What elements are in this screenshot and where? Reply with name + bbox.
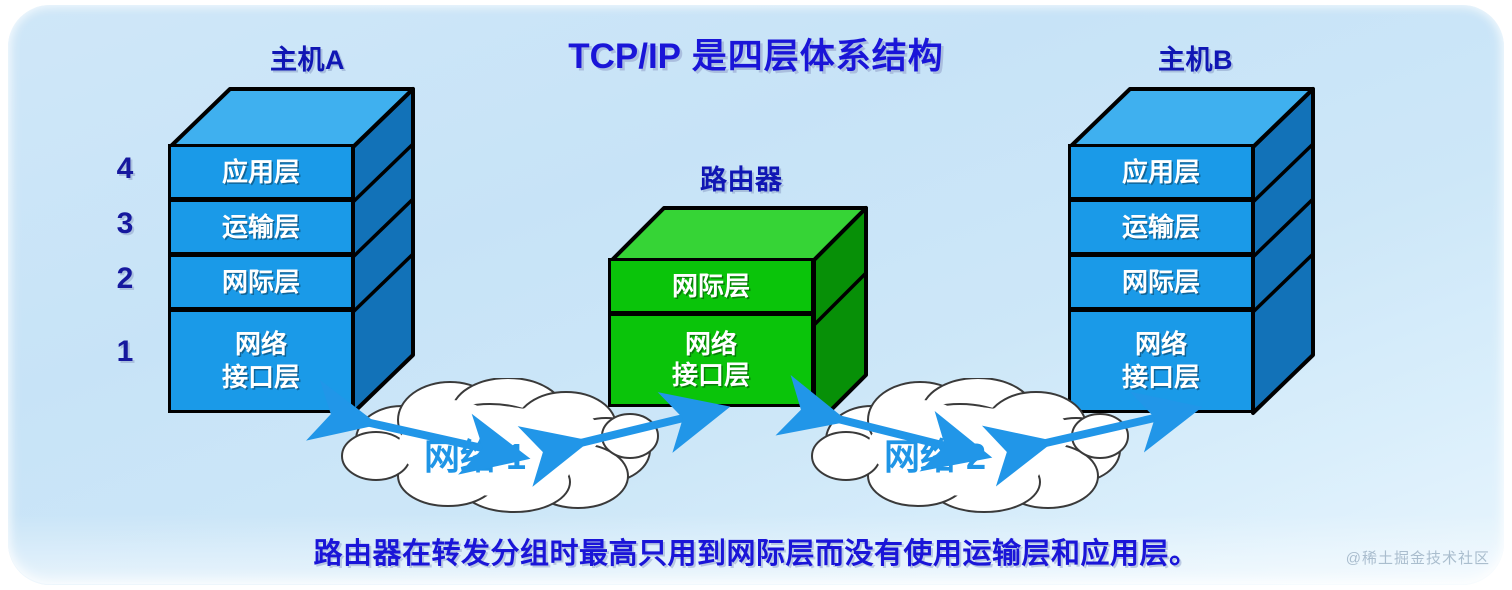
host-a-layer-network-interface: 网络 接口层 (168, 309, 354, 413)
diagram-canvas: TCP/IP 是四层体系结构 主机A 路由器 主机B 4 3 2 1 应用层 运… (0, 0, 1512, 590)
title-latin: TCP/IP (568, 37, 681, 76)
router-layer-internet-label: 网际层 (672, 273, 750, 300)
router-layer-internet: 网际层 (608, 258, 814, 314)
title-cjk: 是四层体系结构 (681, 37, 944, 76)
host-a-layer-transport: 运输层 (168, 199, 354, 255)
host-a-layer-application-label: 应用层 (222, 159, 300, 186)
host-a-layer-internet-label: 网际层 (222, 269, 300, 296)
layer-number-1: 1 (112, 335, 138, 369)
watermark: @稀土掘金技术社区 (1346, 547, 1490, 568)
host-a-layer-application: 应用层 (168, 144, 354, 200)
network-1-label: 网络 1 (424, 428, 526, 480)
host-b-layer-network-interface-line2: 接口层 (1122, 364, 1200, 391)
layer-number-2: 2 (112, 262, 138, 296)
host-b-layer-application: 应用层 (1068, 144, 1254, 200)
host-a-layer-internet: 网际层 (168, 254, 354, 310)
layer-number-3: 3 (112, 207, 138, 241)
host-b-layer-internet-label: 网际层 (1122, 269, 1200, 296)
host-b-layer-transport-label: 运输层 (1122, 214, 1200, 241)
host-b-layer-transport: 运输层 (1068, 199, 1254, 255)
host-a-layer-transport-label: 运输层 (222, 214, 300, 241)
network-2-label: 网络 2 (884, 428, 986, 480)
host-a-layer-network-interface-line2: 接口层 (222, 364, 300, 391)
host-a-layer-network-interface-line1: 网络 (235, 331, 287, 358)
caption-text: 路由器在转发分组时最高只用到网际层而没有使用运输层和应用层。 (0, 530, 1512, 572)
host-b-layer-application-label: 应用层 (1122, 159, 1200, 186)
layer-number-4: 4 (112, 152, 138, 186)
host-b-layer-network-interface-line1: 网络 (1135, 331, 1187, 358)
router-layer-network-interface-line1: 网络 (685, 331, 737, 358)
host-b-layer-internet: 网际层 (1068, 254, 1254, 310)
router-layer-network-interface-line2: 接口层 (672, 362, 750, 389)
